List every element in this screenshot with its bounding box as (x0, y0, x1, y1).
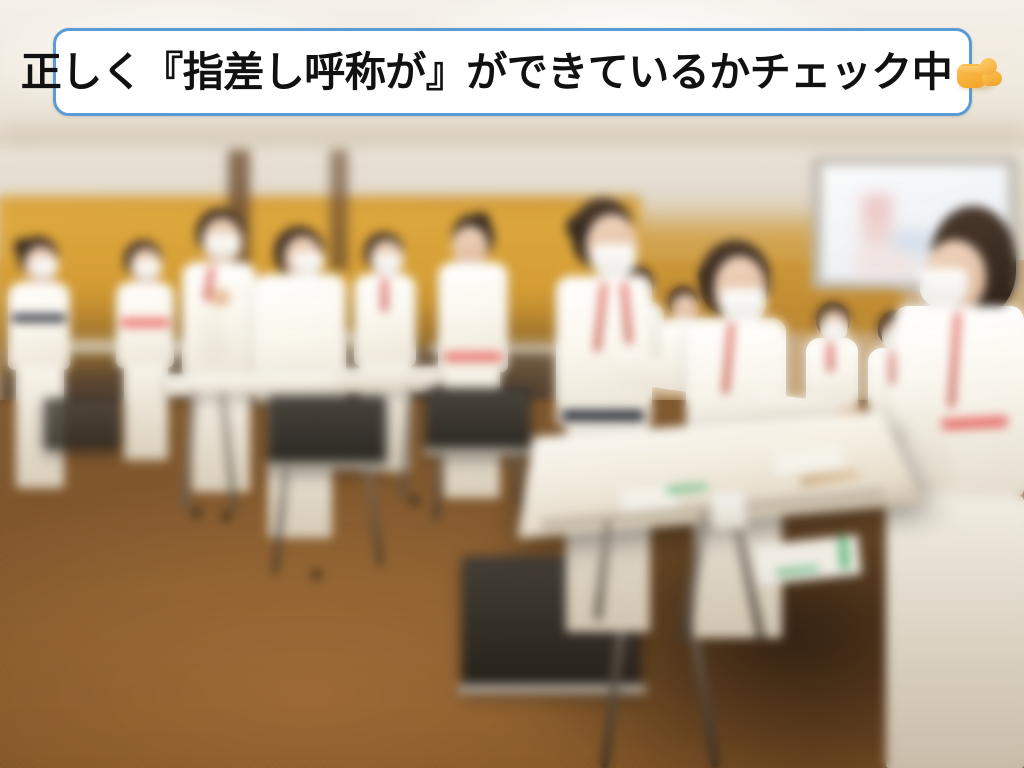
face-mask (592, 244, 636, 278)
head (452, 226, 488, 266)
stacking-chair (268, 396, 386, 468)
face-mask (374, 254, 402, 274)
pink-sash (444, 352, 502, 361)
slide-canvas: 正しく『指差し呼称が』ができているかチェック中 (0, 0, 1024, 768)
stacking-chair (44, 398, 120, 450)
caption-text: 正しく『指差し呼称が』ができているかチェック中 (21, 52, 953, 93)
legs (886, 496, 1024, 768)
face-mask (134, 260, 161, 279)
caption-callout-box[interactable]: 正しく『指差し呼称が』ができているかチェック中 (53, 28, 972, 116)
belt (562, 410, 644, 421)
table-foot (410, 496, 419, 505)
table-foot (222, 512, 231, 521)
folding-table-left-extension (334, 367, 444, 387)
legs (124, 364, 168, 460)
standing-card (711, 493, 747, 531)
face-mask (720, 288, 766, 322)
pointing-hand-icon (956, 50, 1004, 94)
table-foot (192, 508, 201, 517)
face-mask (206, 234, 240, 258)
slide-graphic-a (862, 195, 892, 251)
face-mask (292, 252, 324, 274)
belt (12, 314, 66, 322)
torso (8, 282, 70, 370)
wood-pillar-right (330, 150, 348, 270)
ceiling-beam (0, 120, 1024, 146)
table-foot (312, 570, 321, 579)
pink-sash (120, 318, 170, 327)
slide-graphic-b (892, 232, 932, 254)
face-mask (920, 268, 968, 308)
face-mask (30, 258, 58, 278)
hand (210, 288, 230, 306)
caption-row: 正しく『指差し呼称が』ができているかチェック中 (3, 50, 1023, 94)
stacking-chair (426, 388, 530, 454)
lanyard (828, 342, 833, 372)
slide-graphic-c (855, 252, 915, 278)
lanyard (382, 278, 387, 312)
